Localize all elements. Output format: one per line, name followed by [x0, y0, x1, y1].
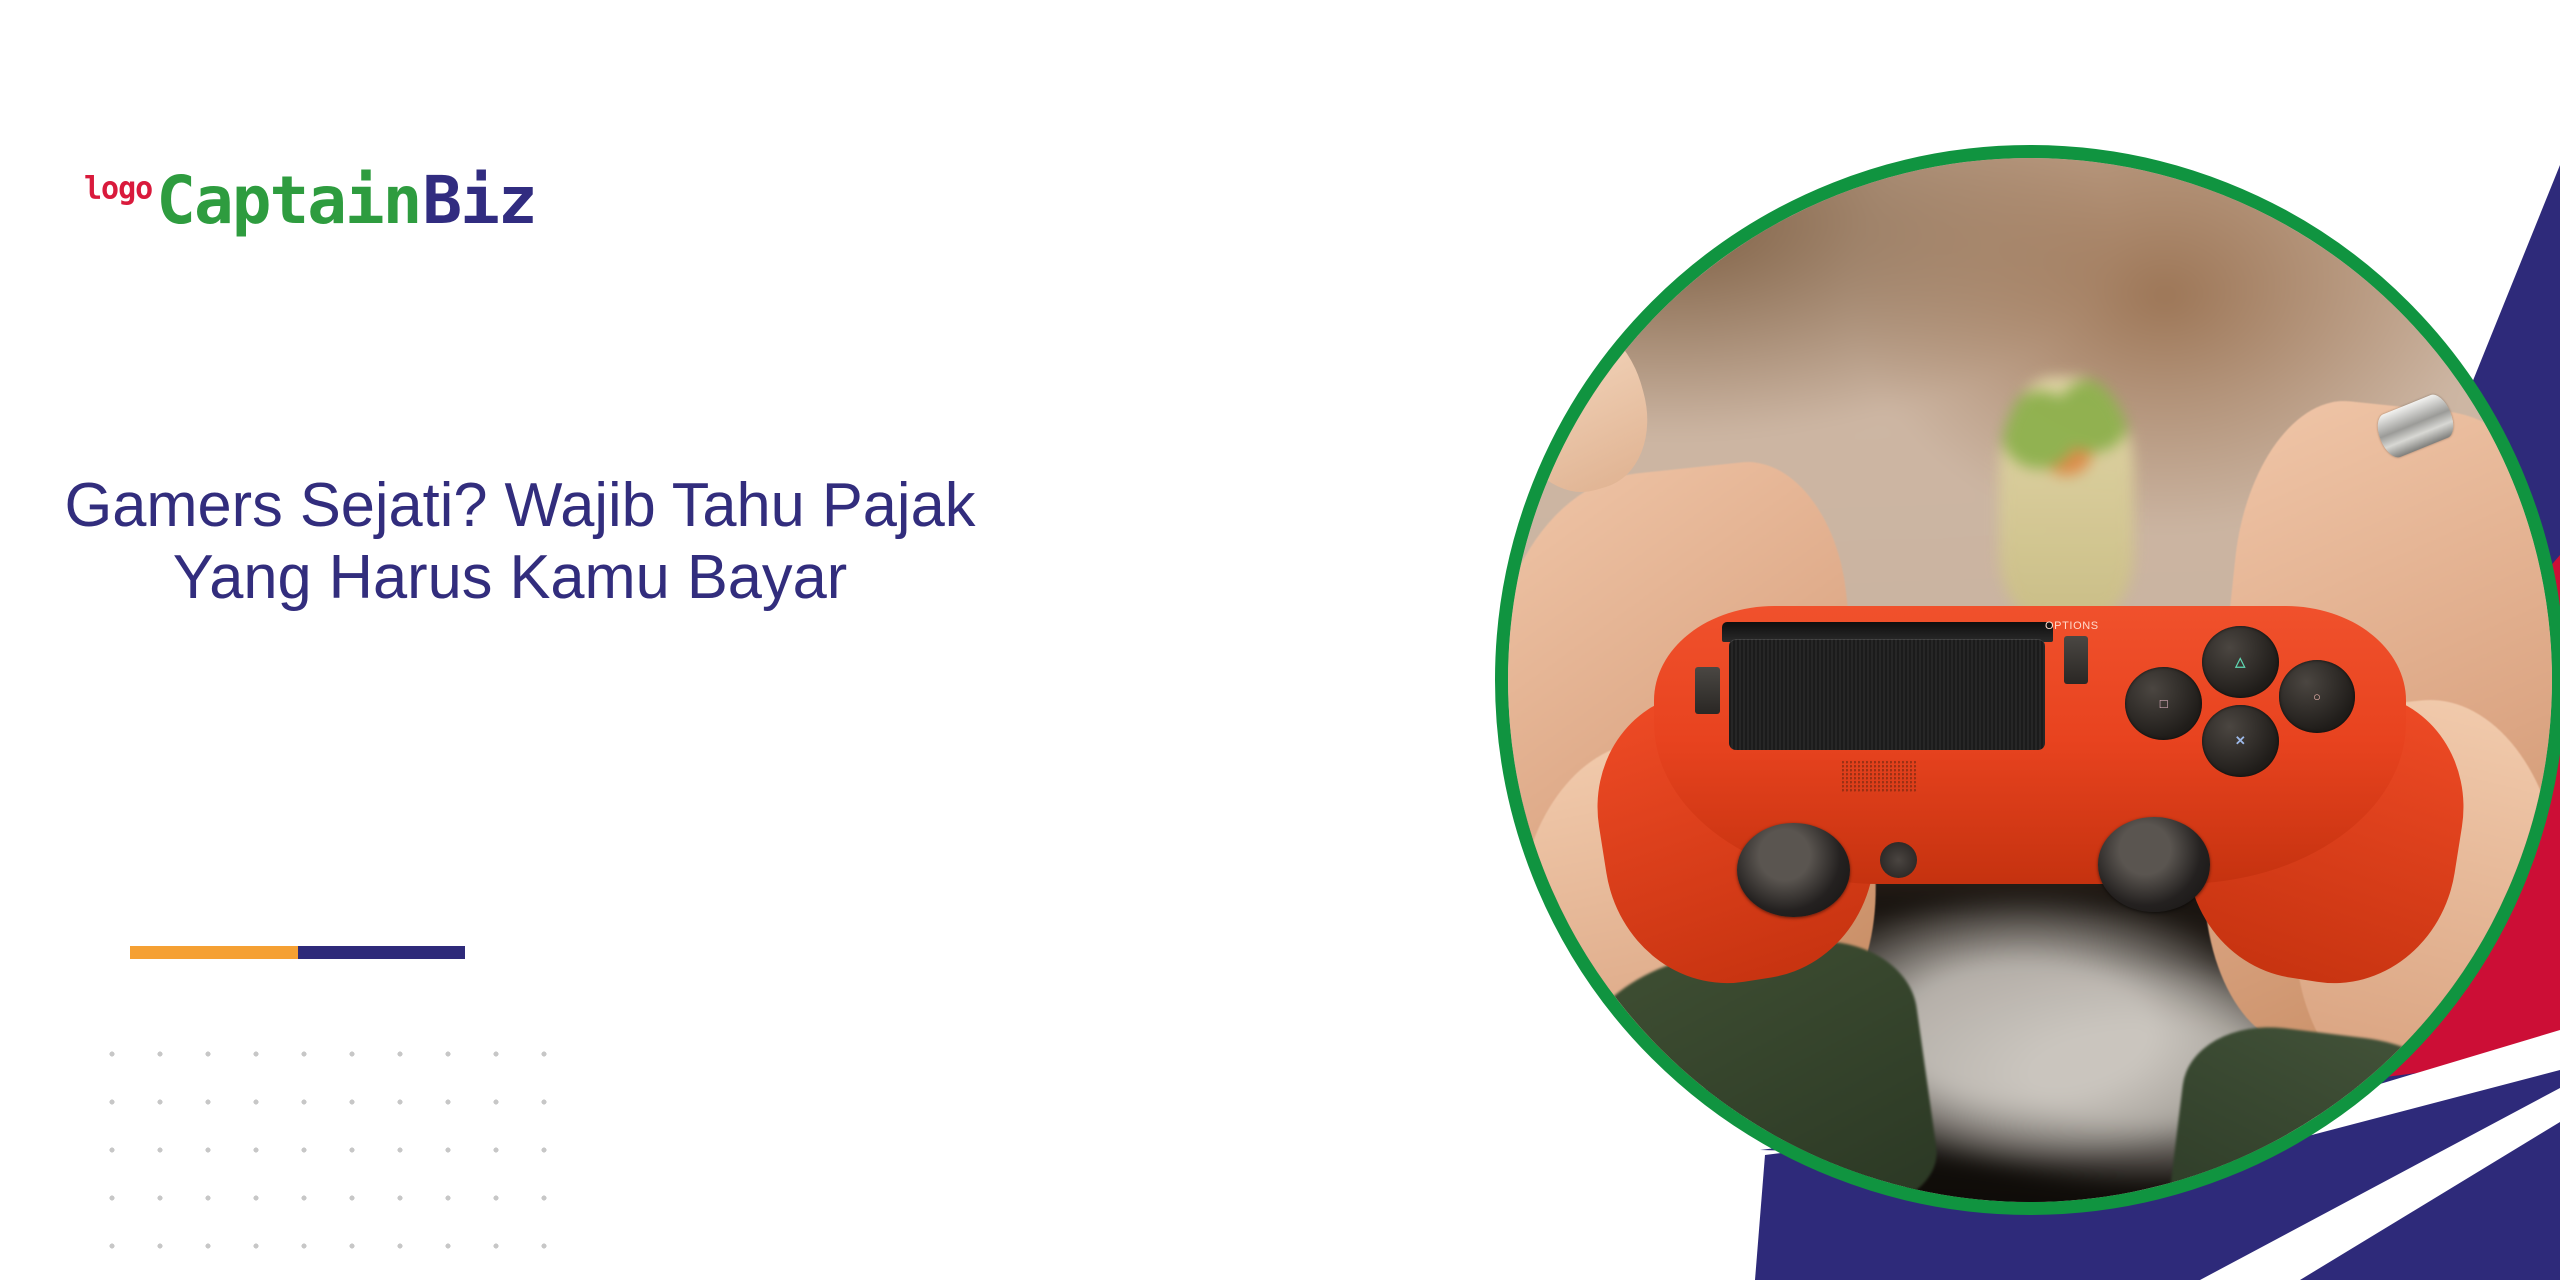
options-button: [2064, 636, 2088, 683]
face-button-cluster: △ ○ □ ✕: [2120, 622, 2376, 794]
hero-photo-circle: OPTIONS △ ○ □ ✕: [1495, 145, 2560, 1215]
dot-grid-pattern: [88, 1030, 568, 1280]
banner-canvas: logo Captain Biz Gamers Sejati? Wajib Ta…: [0, 0, 2560, 1280]
cross-button: ✕: [2202, 705, 2279, 777]
brand-logo[interactable]: logo Captain Biz: [84, 168, 536, 234]
hero-photo: OPTIONS △ ○ □ ✕: [1508, 158, 2552, 1202]
accent-bar-segment-orange: [130, 946, 298, 959]
controller-body: OPTIONS △ ○ □ ✕: [1654, 606, 2406, 884]
page-title: Gamers Sejati? Wajib Tahu Pajak Yang Har…: [60, 470, 960, 614]
ps-home-button: [1880, 842, 1918, 878]
right-thumbstick: [2098, 817, 2211, 912]
left-thumbstick: [1737, 823, 1850, 918]
triangle-icon: △: [2202, 626, 2279, 698]
triangle-button: △: [2202, 626, 2279, 698]
accent-bar: [130, 946, 465, 959]
square-icon: □: [2125, 667, 2202, 739]
logo-badge-text: logo: [84, 173, 152, 205]
controller-speaker: [1842, 761, 1917, 792]
game-controller: OPTIONS △ ○ □ ✕: [1654, 576, 2406, 952]
share-button: [1695, 667, 1719, 714]
brand-name-captain: Captain: [156, 168, 420, 234]
brand-wordmark: Captain Biz: [156, 168, 535, 234]
controller-touchpad: [1729, 639, 2045, 750]
headline-line-1: Gamers Sejati? Wajib Tahu Pajak: [65, 470, 956, 542]
accent-bar-segment-navy: [298, 946, 466, 959]
cross-icon: ✕: [2202, 705, 2279, 777]
options-label: OPTIONS: [2045, 620, 2099, 632]
headline-line-2: Yang Harus Kamu Bayar: [65, 542, 956, 614]
brand-name-biz: Biz: [422, 168, 535, 234]
circle-button: ○: [2279, 660, 2356, 732]
square-button: □: [2125, 667, 2202, 739]
circle-icon: ○: [2279, 660, 2356, 732]
